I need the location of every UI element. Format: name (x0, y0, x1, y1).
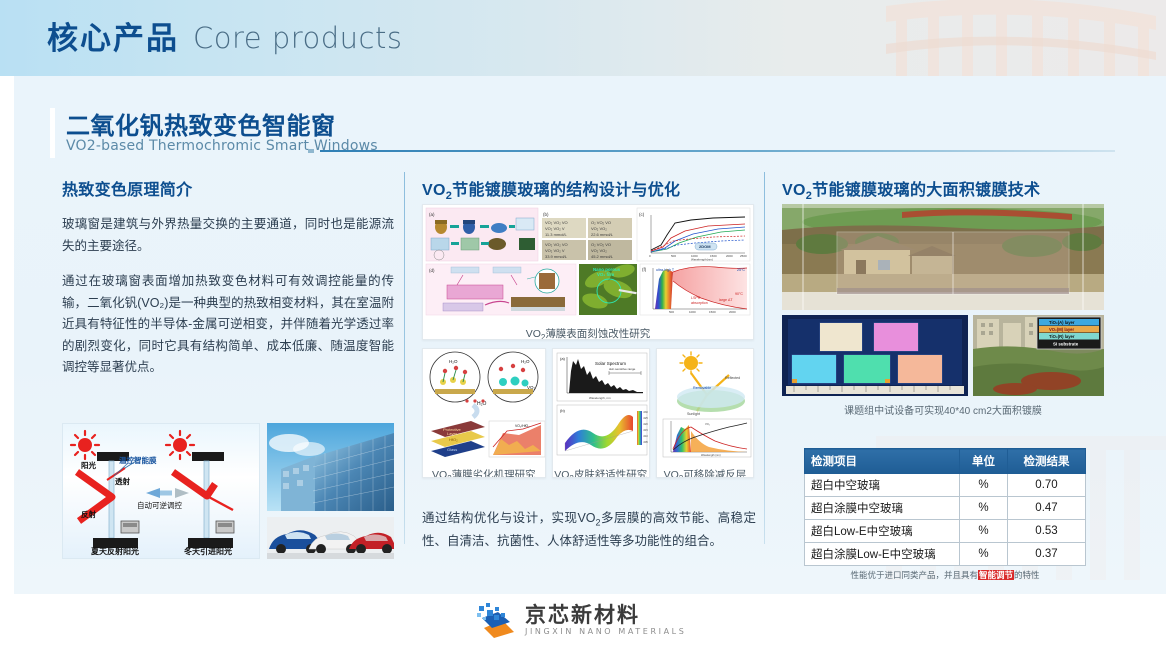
table-cell-item: 超白涂膜Low-E中空玻璃 (805, 543, 960, 566)
left-white-strip (0, 76, 14, 594)
figure-comfort-svg: (a) Solar Spectrum skin sensitive range … (553, 349, 650, 459)
svg-text:O₂ VO₂ VO: O₂ VO₂ VO (591, 220, 611, 225)
svg-text:11.3 mmol/L: 11.3 mmol/L (545, 232, 567, 237)
figure-caption-etching-pre: VO (526, 328, 541, 340)
thermochromic-diagram: 阳光 温控智能膜 透射 反射 自动可逆调控 夏天反射阳光 冬天引进阳光 (62, 423, 260, 559)
figure-caption-comfort-pre: VO (554, 469, 569, 478)
label-auto-control: 自动可逆调控 (137, 500, 182, 511)
svg-text:90°C: 90°C (735, 292, 743, 296)
photo-glass-building (267, 423, 394, 511)
svg-text:Sunlight: Sunlight (687, 412, 700, 416)
column-middle: VO2节能镀膜玻璃的结构设计与优化 (a) (422, 176, 754, 202)
right-photo-group: TiO₂(A) layer VO₂(M) layer TiO₂(R) layer… (782, 204, 1104, 396)
column-divider-2 (764, 172, 765, 544)
right-photo-row-2: TiO₂(A) layer VO₂(M) layer TiO₂(R) layer… (782, 315, 1104, 396)
svg-text:VO₂: VO₂ (527, 385, 536, 390)
svg-text:.030: .030 (643, 411, 648, 414)
thermochromic-diagram-svg (63, 424, 260, 559)
svg-text:ultra-high T: ultra-high T (656, 268, 675, 272)
logo-text-group: 京芯新材料 JINGXIN NANO MATERIALS (525, 604, 686, 637)
svg-text:.020: .020 (643, 423, 648, 426)
svg-text:22.6 mmol/L: 22.6 mmol/L (591, 232, 614, 237)
table-header-result: 检测结果 (1008, 449, 1086, 474)
table-footnote-pre: 性能优于进口同类产品，并且具有 (850, 570, 978, 580)
table-footnote: 性能优于进口同类产品，并且具有智能调节的特性 (804, 569, 1086, 581)
svg-text:Removable: Removable (693, 386, 711, 390)
test-results-table: 检测项目 单位 检测结果 超白中空玻璃 % 0.70 超白涂膜中空玻璃 % 0.… (804, 448, 1086, 566)
table-cell-result: 0.47 (1008, 497, 1086, 520)
column-right-title-post: 节能镀膜玻璃的大面积镀膜技术 (812, 182, 1040, 199)
column-middle-title: VO2节能镀膜玻璃的结构设计与优化 (422, 176, 754, 202)
company-logo: 京芯新材料 JINGXIN NANO MATERIALS (476, 602, 686, 640)
table-row: 超白Low-E中空玻璃 % 0.53 (805, 520, 1086, 543)
column-middle-title-pre: VO (422, 182, 446, 199)
label-transmit: 透射 (115, 476, 130, 487)
figure-caption-antireflect: VO2可移除减反层 (657, 464, 753, 478)
column-right: VO2节能镀膜玻璃的大面积镀膜技术 (782, 176, 1104, 202)
svg-text:45.2 mmol/L: 45.2 mmol/L (591, 254, 614, 259)
middle-note-part1: 通过结构优化与设计，实现VO (422, 511, 596, 525)
table-row: 超白中空玻璃 % 0.70 (805, 474, 1086, 497)
table-row: 超白涂膜Low-E中空玻璃 % 0.37 (805, 543, 1086, 566)
column-left: 热致变色原理简介 玻璃窗是建筑与外界热量交换的主要通道，同时也是能源流失的主要途… (62, 176, 394, 379)
svg-text:TiO₂(A) layer: TiO₂(A) layer (1049, 320, 1075, 325)
label-smart-film: 温控智能膜 (119, 455, 157, 466)
section-title-cn: 二氧化钒热致变色智能窗 (66, 106, 336, 141)
svg-text:Wavelength (nm): Wavelength (nm) (701, 453, 721, 457)
photo-layer-structure: TiO₂(A) layer VO₂(M) layer TiO₂(R) layer… (973, 315, 1104, 396)
svg-text:2000: 2000 (726, 254, 733, 258)
svg-text:(f): (f) (642, 267, 647, 272)
table-cell-unit: % (960, 543, 1008, 566)
page-title-cn: 核心产品 (47, 23, 179, 54)
figure-caption-etching: VO2薄膜表面刻蚀改性研究 (423, 323, 753, 340)
table-row: 超白涂膜中空玻璃 % 0.47 (805, 497, 1086, 520)
section-rule (320, 150, 1115, 152)
figure-caption-antireflect-post: 可移除减反层 (683, 469, 746, 478)
column-right-title-pre: VO (782, 182, 806, 199)
page-title-en: Core products (193, 24, 403, 53)
caption-winter: 冬天引进阳光 (184, 546, 232, 557)
table-header-row: 检测项目 单位 检测结果 (805, 449, 1086, 474)
label-reflect: 反射 (81, 509, 96, 520)
svg-text:.015: .015 (643, 429, 648, 432)
room-right (188, 452, 234, 548)
svg-text:500: 500 (669, 310, 674, 314)
svg-text:Wavelength(nm): Wavelength(nm) (691, 258, 713, 262)
svg-text:VO₂ VO₂ VO: VO₂ VO₂ VO (545, 242, 568, 247)
header-watermark-icon (866, 0, 1166, 76)
figure-caption-comfort-post: 皮肤舒适性研究 (574, 469, 648, 478)
sun-icon-right (166, 431, 194, 459)
figure-card-row: H₂O H₂O VO₂ H₂O Protectiv (422, 348, 754, 484)
svg-text:Reflected: Reflected (725, 376, 740, 380)
photo-cars (267, 517, 394, 559)
svg-text:VO₂ VO₂ VO: VO₂ VO₂ VO (545, 220, 568, 225)
reversible-arrows (146, 488, 189, 498)
figure-caption-comfort: VO2皮肤舒适性研究 (553, 464, 649, 478)
figure-caption-degradation-pre: VO (432, 469, 447, 478)
slide: 核心产品 Core products 二氧化钒热致变色智能窗 VO2-based… (0, 0, 1166, 658)
figure-card-etching: (a) (b) (422, 204, 754, 340)
figure-caption-degradation-post: 薄膜劣化机理研究 (452, 469, 536, 478)
svg-text:TiO₂(R) layer: TiO₂(R) layer (1049, 334, 1075, 339)
figure-card-degradation: H₂O H₂O VO₂ H₂O Protectiv (422, 348, 546, 478)
table-header-item: 检测项目 (805, 449, 960, 474)
table-cell-unit: % (960, 497, 1008, 520)
svg-text:(a): (a) (429, 212, 435, 217)
right-photo-caption: 课题组中试设备可实现40*40 cm2大面积镀膜 (782, 402, 1104, 417)
section-dash (308, 149, 314, 153)
svg-text:large ΔT: large ΔT (719, 298, 733, 302)
table-cell-unit: % (960, 520, 1008, 543)
logo-name-cn: 京芯新材料 (525, 604, 686, 627)
middle-summary-note: 通过结构优化与设计，实现VO2多层膜的高效节能、高稳定性、自清洁、抗菌性、人体舒… (422, 508, 756, 552)
svg-text:.025: .025 (643, 417, 648, 420)
section-accent-bar (50, 108, 55, 158)
svg-text:2000: 2000 (729, 310, 736, 314)
left-paragraph-2: 通过在玻璃窗表面增加热致变色材料可有效调控能量的传输，二氧化钒(VO₂)是一种典… (62, 271, 394, 379)
svg-text:Solar Spectrum: Solar Spectrum (595, 361, 626, 366)
svg-text:Glass: Glass (447, 447, 457, 452)
svg-text:VO₂ film: VO₂ film (597, 272, 614, 277)
column-middle-title-post: 节能镀膜玻璃的结构设计与优化 (452, 182, 680, 199)
svg-text:33.9 mmol/L: 33.9 mmol/L (545, 254, 568, 259)
svg-text:VO₂ VO₂ V: VO₂ VO₂ V (545, 248, 565, 253)
figure-degradation-svg: H₂O H₂O VO₂ H₂O Protectiv (423, 349, 546, 459)
section-title-block: 二氧化钒热致变色智能窗 VO2-based Thermochromic Smar… (50, 106, 1120, 162)
svg-text:H₂O: H₂O (521, 359, 530, 364)
page-header: 核心产品 Core products (0, 0, 1166, 76)
figure-caption-antireflect-pre: VO (664, 469, 679, 478)
label-sunlight: 阳光 (81, 460, 96, 471)
svg-text:Si substrate: Si substrate (1053, 342, 1079, 347)
svg-text:(d): (d) (429, 268, 435, 273)
table-footnote-highlight: 智能调节 (978, 570, 1014, 580)
caption-summer: 夏天反射阳光 (91, 546, 139, 557)
svg-text:H₂O: H₂O (449, 359, 458, 364)
table-cell-item: 超白Low-E中空玻璃 (805, 520, 960, 543)
svg-text:VO₂/HfO₂: VO₂/HfO₂ (515, 424, 530, 428)
figure-caption-etching-post: 薄膜表面刻蚀改性研究 (545, 328, 650, 340)
left-figure-group: 阳光 温控智能膜 透射 反射 自动可逆调控 夏天反射阳光 冬天引进阳光 (62, 423, 394, 559)
left-paragraph-1: 玻璃窗是建筑与外界热量交换的主要通道，同时也是能源流失的主要途径。 (62, 214, 394, 257)
svg-text:(a): (a) (560, 356, 566, 361)
svg-text:1000: 1000 (689, 310, 696, 314)
svg-text:VO₂ VO₂ V: VO₂ VO₂ V (545, 226, 565, 231)
svg-text:.010: .010 (643, 435, 648, 438)
svg-text:O₂ VO₂ VO: O₂ VO₂ VO (591, 242, 611, 247)
svg-text:VO₂ VO₂: VO₂ VO₂ (591, 226, 607, 231)
svg-text:2DOM: 2DOM (699, 244, 711, 249)
svg-text:.005: .005 (643, 441, 648, 444)
sun-icon-left (71, 431, 99, 459)
figure-etching-svg: (a) (b) (423, 205, 753, 318)
svg-text:Wavelength, nm: Wavelength, nm (589, 396, 611, 400)
svg-text:skin sensitive range: skin sensitive range (609, 367, 636, 371)
column-right-title: VO2节能镀膜玻璃的大面积镀膜技术 (782, 176, 1104, 202)
header-title-group: 核心产品 Core products (47, 0, 403, 76)
table-cell-unit: % (960, 474, 1008, 497)
figure-caption-degradation: VO2薄膜劣化机理研究 (423, 464, 545, 478)
photo-coating-equipment (782, 204, 1104, 310)
test-results-table-wrap: 检测项目 单位 检测结果 超白中空玻璃 % 0.70 超白涂膜中空玻璃 % 0.… (804, 448, 1086, 581)
table-cell-result: 0.70 (1008, 474, 1086, 497)
svg-text:LSPR: LSPR (691, 296, 701, 300)
svg-text:VO₂: VO₂ (705, 422, 710, 426)
logo-mark-icon (476, 602, 516, 640)
figure-antireflect-svg: Removable Reflected Sunlight (657, 349, 754, 459)
table-cell-item: 超白中空玻璃 (805, 474, 960, 497)
column-divider-1 (404, 172, 405, 544)
svg-text:500: 500 (671, 254, 676, 258)
figure-card-antireflect: Removable Reflected Sunlight (656, 348, 754, 478)
table-cell-result: 0.53 (1008, 520, 1086, 543)
room-left (93, 452, 139, 548)
figure-card-comfort: (a) Solar Spectrum skin sensitive range … (552, 348, 650, 478)
svg-text:VO₂(M) layer: VO₂(M) layer (1049, 327, 1075, 332)
table-header-unit: 单位 (960, 449, 1008, 474)
svg-text:VO₂ VO₂: VO₂ VO₂ (591, 248, 607, 253)
table-cell-result: 0.37 (1008, 543, 1086, 566)
column-left-title: 热致变色原理简介 (62, 176, 394, 200)
svg-text:2500: 2500 (740, 254, 747, 258)
svg-text:25°C: 25°C (737, 268, 745, 272)
svg-text:(b): (b) (560, 408, 566, 413)
table-cell-item: 超白涂膜中空玻璃 (805, 497, 960, 520)
svg-text:1500: 1500 (709, 310, 716, 314)
table-footnote-post: 的特性 (1014, 570, 1040, 580)
svg-text:HfO₂: HfO₂ (449, 437, 458, 442)
svg-text:(c): (c) (639, 212, 645, 217)
svg-text:(b): (b) (543, 212, 549, 217)
left-side-photos (267, 423, 394, 559)
svg-text:absorption: absorption (691, 301, 708, 305)
logo-name-en: JINGXIN NANO MATERIALS (525, 627, 686, 637)
photo-coated-samples (782, 315, 968, 396)
